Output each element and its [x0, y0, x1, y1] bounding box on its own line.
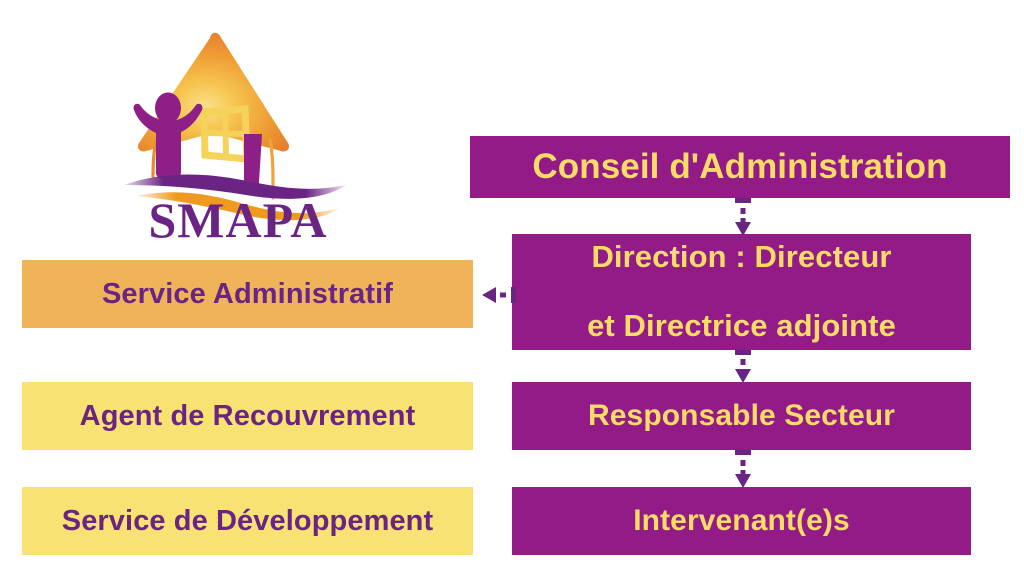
node-responsable-secteur[interactable]: Responsable Secteur — [512, 382, 971, 450]
logo-wordmark: SMAPA — [148, 192, 327, 244]
smapa-logo: SMAPA — [118, 22, 358, 244]
node-service-administratif[interactable]: Service Administratif — [22, 260, 473, 328]
node-direction[interactable]: Direction : Directeur et Directrice adjo… — [512, 234, 971, 350]
node-recouvrement-label: Agent de Recouvrement — [22, 400, 473, 432]
connector-responsable-to-intervenants-arrow-icon — [728, 448, 758, 490]
node-direction-line2: et Directrice adjointe — [512, 309, 971, 344]
node-intervenants-label: Intervenant(e)s — [512, 504, 971, 538]
org-chart-canvas: SMAPA Conseil d'Administration Direction… — [0, 0, 1024, 577]
node-responsable-label: Responsable Secteur — [512, 399, 971, 433]
node-conseil-label: Conseil d'Administration — [470, 147, 1010, 186]
node-developpement-label: Service de Développement — [22, 505, 473, 537]
node-direction-text: Direction : Directeur et Directrice adjo… — [512, 240, 971, 344]
node-agent-recouvrement[interactable]: Agent de Recouvrement — [22, 382, 473, 450]
connector-conseil-to-direction-arrow-icon — [728, 196, 758, 238]
node-intervenants[interactable]: Intervenant(e)s — [512, 487, 971, 555]
house-wall-left — [153, 140, 156, 176]
connector-direction-to-responsable-arrow-icon — [728, 348, 758, 386]
house-pillar-right — [244, 134, 262, 188]
connector-direction-to-administratif-arrow-icon — [470, 280, 518, 310]
node-conseil-administration[interactable]: Conseil d'Administration — [470, 136, 1010, 198]
node-administratif-label: Service Administratif — [22, 278, 473, 310]
node-service-developpement[interactable]: Service de Développement — [22, 487, 473, 555]
node-direction-line1: Direction : Directeur — [512, 240, 971, 275]
